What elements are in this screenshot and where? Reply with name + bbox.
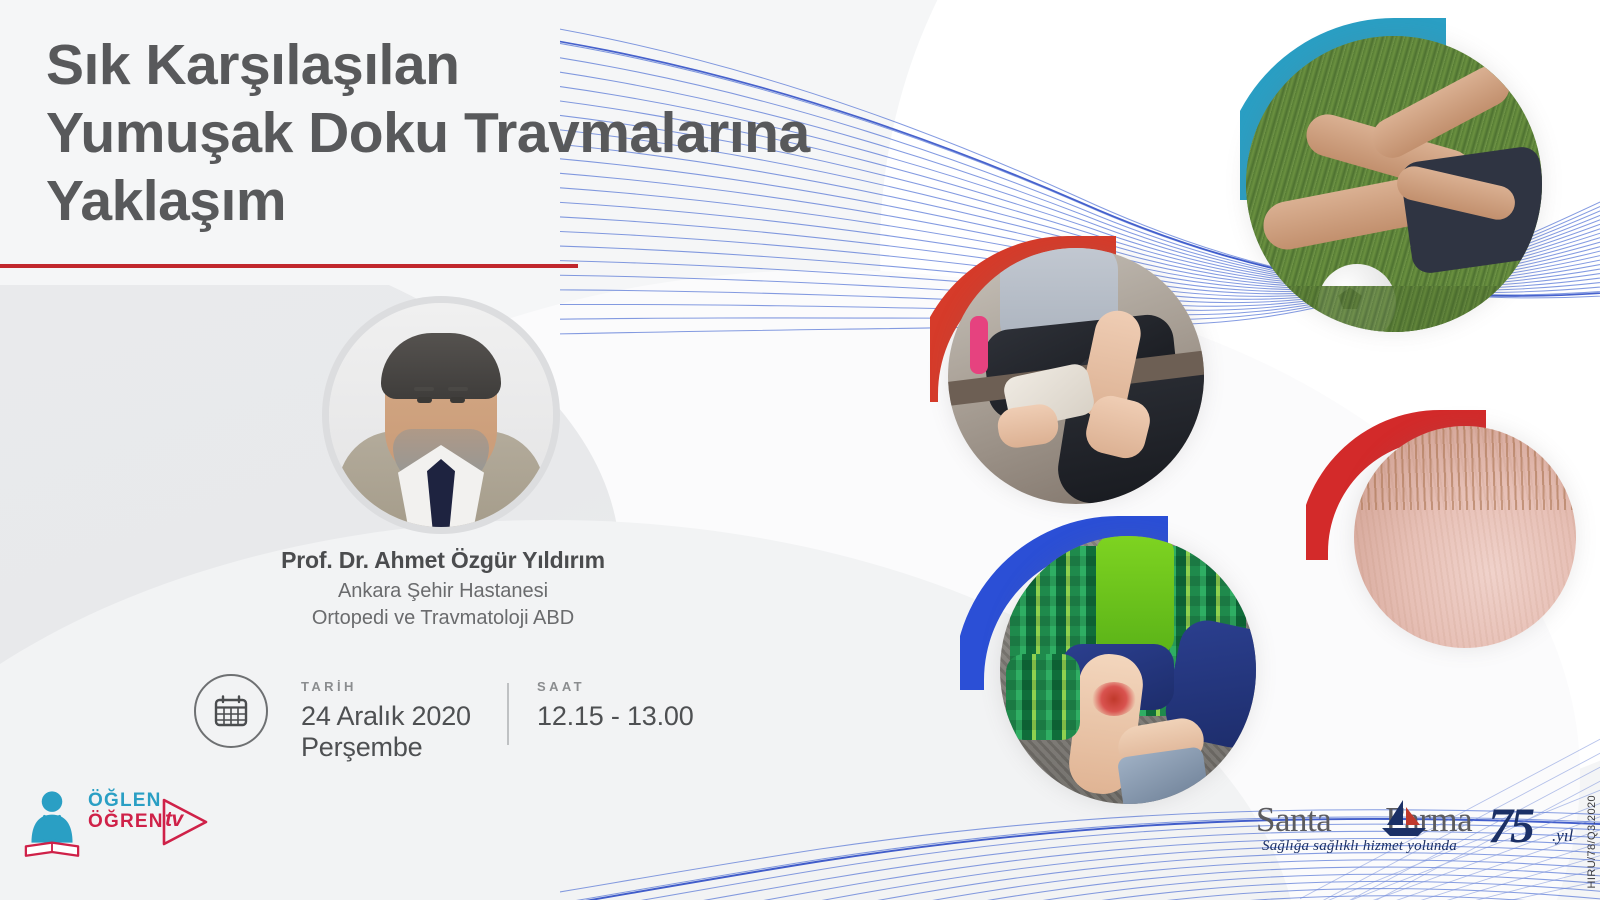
doctor-reading-book-icon: [24, 788, 80, 860]
photo-bandaged-wrist: [930, 230, 1220, 520]
brand-wordmark: ÖĞLEN ÖĞREN: [88, 790, 164, 833]
speaker-portrait: [329, 303, 553, 527]
brand-line-1: ÖĞLEN: [88, 790, 164, 811]
photo-image: [1354, 426, 1576, 648]
anniversary-number: 75: [1488, 796, 1532, 854]
avatar: [322, 296, 560, 534]
title-line-1: Sık Karşılaşılan: [46, 32, 1036, 100]
photo-image: [1000, 536, 1256, 804]
document-code: HIRU/78/Q3.2020: [1586, 795, 1598, 888]
brand-logo-oglen-ogren-tv[interactable]: ÖĞLEN ÖĞREN tv: [24, 786, 214, 868]
date-value-line-2: Perşembe: [301, 732, 499, 763]
photo-child-scraped-knee: [960, 508, 1270, 808]
santa-farma-wordmark: SantaFarma: [1256, 800, 1472, 840]
page-title: Sık Karşılaşılan Yumuşak Doku Travmaları…: [46, 32, 1036, 235]
event-datetime: TARİH 24 Aralık 2020 Perşembe SAAT 12.15…: [301, 679, 694, 764]
brand-tv-label: tv: [165, 808, 183, 832]
speaker-affiliation-line-1: Ankara Şehir Hastanesi: [0, 578, 886, 605]
event-time: SAAT 12.15 - 13.00: [537, 679, 694, 732]
time-value: 12.15 - 13.00: [537, 701, 694, 732]
date-value: 24 Aralık 2020 Perşembe: [301, 701, 499, 764]
speaker-name: Prof. Dr. Ahmet Özgür Yıldırım: [0, 547, 886, 574]
anniversary-unit: .yıl: [1552, 826, 1573, 846]
date-label: TARİH: [301, 679, 499, 694]
brand-line-2: ÖĞREN: [88, 811, 164, 832]
date-value-line-1: 24 Aralık 2020: [301, 701, 499, 732]
speaker-affiliation-line-2: Ortopedi ve Travmatoloji ABD: [0, 605, 886, 632]
event-date: TARİH 24 Aralık 2020 Perşembe: [301, 679, 499, 764]
time-label: SAAT: [537, 679, 694, 694]
datetime-separator: [507, 683, 509, 745]
speaker-affiliation: Ankara Şehir Hastanesi Ortopedi ve Travm…: [0, 578, 886, 632]
photo-skin-swelling-closeup: [1306, 396, 1576, 666]
calendar-icon: [214, 695, 248, 727]
title-line-3: Yaklaşım: [46, 168, 1036, 236]
photo-image: [948, 248, 1204, 504]
blue-line-fan-right: [1300, 690, 1600, 900]
title-divider-rule: [0, 264, 578, 268]
santa-farma-tagline: Sağlığa sağlıklı hizmet yolunda: [1262, 838, 1457, 855]
brand-logo-santa-farma[interactable]: SantaFarma Sağlığa sağlıklı hizmet yolun…: [1256, 800, 1566, 862]
time-value-text: 12.15 - 13.00: [537, 701, 694, 732]
santa-farma-name-part-1: Santa: [1256, 800, 1331, 839]
sailboat-icon: [1378, 798, 1430, 838]
photo-image: [1246, 36, 1542, 332]
title-line-2: Yumuşak Doku Travmalarına: [46, 100, 1036, 168]
calendar-icon-frame: [194, 674, 268, 748]
poster-canvas: Sık Karşılaşılan Yumuşak Doku Travmaları…: [0, 0, 1600, 900]
photo-athlete-ankle-injury: [1240, 14, 1600, 344]
